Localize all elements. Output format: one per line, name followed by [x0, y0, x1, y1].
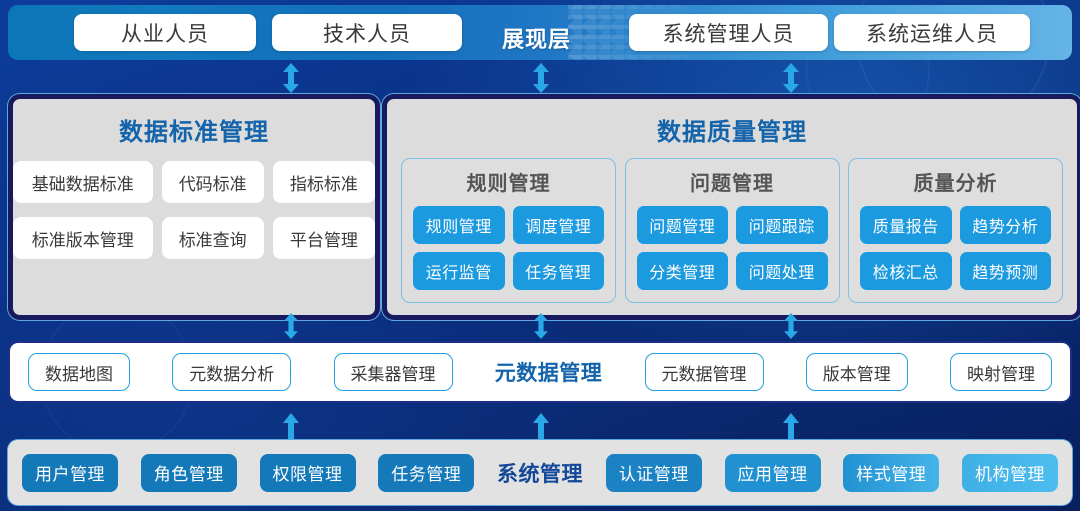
sub-panel-issue-management: 问题管理 问题管理 问题跟踪 分类管理 问题处理	[625, 158, 840, 303]
chip-code-standard[interactable]: 代码标准	[162, 161, 264, 203]
chip-platform-management[interactable]: 平台管理	[273, 217, 375, 259]
double-arrow-up-down	[781, 313, 801, 339]
row-title-system-management: 系统管理	[497, 458, 583, 488]
sub-panel-quality-analysis: 质量分析 质量报告 趋势分析 检核汇总 趋势预测	[848, 158, 1063, 303]
chip-task-management[interactable]: 任务管理	[378, 454, 474, 492]
sub-panel-grid: 规则管理 调度管理 运行监管 任务管理	[402, 196, 615, 290]
chip-mapping-management[interactable]: 映射管理	[950, 353, 1052, 391]
layer-title-presentation: 展现层	[502, 22, 571, 54]
chip-issue-tracking[interactable]: 问题跟踪	[736, 206, 828, 244]
sub-panel-group: 规则管理 规则管理 调度管理 运行监管 任务管理 问题管理 问题管理 问题跟踪 …	[387, 158, 1077, 303]
role-pill-technician[interactable]: 技术人员	[272, 14, 462, 51]
panel-data-standard-management: 数据标准管理 基础数据标准 代码标准 指标标准 标准版本管理 标准查询 平台管理	[8, 94, 380, 320]
chip-row: 基础数据标准 代码标准 指标标准	[13, 161, 375, 203]
row-title-metadata-management: 元数据管理	[495, 357, 603, 387]
chip-permission-management[interactable]: 权限管理	[260, 454, 356, 492]
chip-application-management[interactable]: 应用管理	[725, 454, 821, 492]
chip-version-management[interactable]: 版本管理	[806, 353, 908, 391]
chip-role-management[interactable]: 角色管理	[141, 454, 237, 492]
double-arrow-up-down	[531, 313, 551, 339]
arrow-up	[782, 413, 802, 439]
chip-data-map[interactable]: 数据地图	[28, 353, 130, 391]
role-pill-system-ops[interactable]: 系统运维人员	[834, 14, 1030, 51]
sub-panel-grid: 问题管理 问题跟踪 分类管理 问题处理	[626, 196, 839, 290]
role-pill-system-admin[interactable]: 系统管理人员	[629, 14, 828, 51]
system-management-row: 用户管理 角色管理 权限管理 任务管理 系统管理 认证管理 应用管理 样式管理 …	[8, 440, 1072, 505]
chip-organization-management[interactable]: 机构管理	[962, 454, 1058, 492]
chip-trend-analysis[interactable]: 趋势分析	[960, 206, 1052, 244]
sub-panel-grid: 质量报告 趋势分析 检核汇总 趋势预测	[849, 196, 1062, 290]
role-pill-practitioner[interactable]: 从业人员	[74, 14, 256, 51]
chip-style-management[interactable]: 样式管理	[843, 454, 939, 492]
chip-schedule-management[interactable]: 调度管理	[513, 206, 605, 244]
arrow-up	[532, 413, 552, 439]
arrow-up	[282, 413, 302, 439]
chip-metadata-management[interactable]: 元数据管理	[645, 353, 764, 391]
panel-title: 数据质量管理	[387, 112, 1077, 147]
sub-panel-title: 质量分析	[849, 167, 1062, 196]
chip-issue-handling[interactable]: 问题处理	[736, 252, 828, 290]
chip-quality-report[interactable]: 质量报告	[860, 206, 952, 244]
chip-check-summary[interactable]: 检核汇总	[860, 252, 952, 290]
double-arrow-up-down	[531, 63, 551, 93]
chip-standard-version-management[interactable]: 标准版本管理	[13, 217, 153, 259]
chip-indicator-standard[interactable]: 指标标准	[273, 161, 375, 203]
chip-category-management[interactable]: 分类管理	[637, 252, 729, 290]
chip-standard-query[interactable]: 标准查询	[162, 217, 264, 259]
presentation-layer-bar: 从业人员 技术人员 展现层 系统管理人员 系统运维人员	[8, 5, 1072, 60]
sub-panel-title: 问题管理	[626, 167, 839, 196]
sub-panel-title: 规则管理	[402, 167, 615, 196]
chip-auth-management[interactable]: 认证管理	[606, 454, 702, 492]
chip-user-management[interactable]: 用户管理	[22, 454, 118, 492]
chip-rule-management[interactable]: 规则管理	[413, 206, 505, 244]
double-arrow-up-down	[281, 63, 301, 93]
metadata-management-row: 数据地图 元数据分析 采集器管理 元数据管理 元数据管理 版本管理 映射管理	[8, 341, 1072, 403]
panel-data-quality-management: 数据质量管理 规则管理 规则管理 调度管理 运行监管 任务管理 问题管理 问题管…	[382, 94, 1080, 320]
chip-trend-forecast[interactable]: 趋势预测	[960, 252, 1052, 290]
chip-task-management[interactable]: 任务管理	[513, 252, 605, 290]
sub-panel-rule-management: 规则管理 规则管理 调度管理 运行监管 任务管理	[401, 158, 616, 303]
chip-issue-management[interactable]: 问题管理	[637, 206, 729, 244]
architecture-diagram: 从业人员 技术人员 展现层 系统管理人员 系统运维人员 数据标准管理 基础数据标…	[0, 0, 1080, 511]
chip-collector-management[interactable]: 采集器管理	[334, 353, 453, 391]
chip-metadata-analysis[interactable]: 元数据分析	[172, 353, 291, 391]
chip-basic-data-standard[interactable]: 基础数据标准	[13, 161, 153, 203]
chip-row: 标准版本管理 标准查询 平台管理	[13, 217, 375, 259]
double-arrow-up-down	[281, 313, 301, 339]
chip-operation-supervision[interactable]: 运行监管	[413, 252, 505, 290]
panel-title: 数据标准管理	[13, 112, 375, 147]
double-arrow-up-down	[781, 63, 801, 93]
